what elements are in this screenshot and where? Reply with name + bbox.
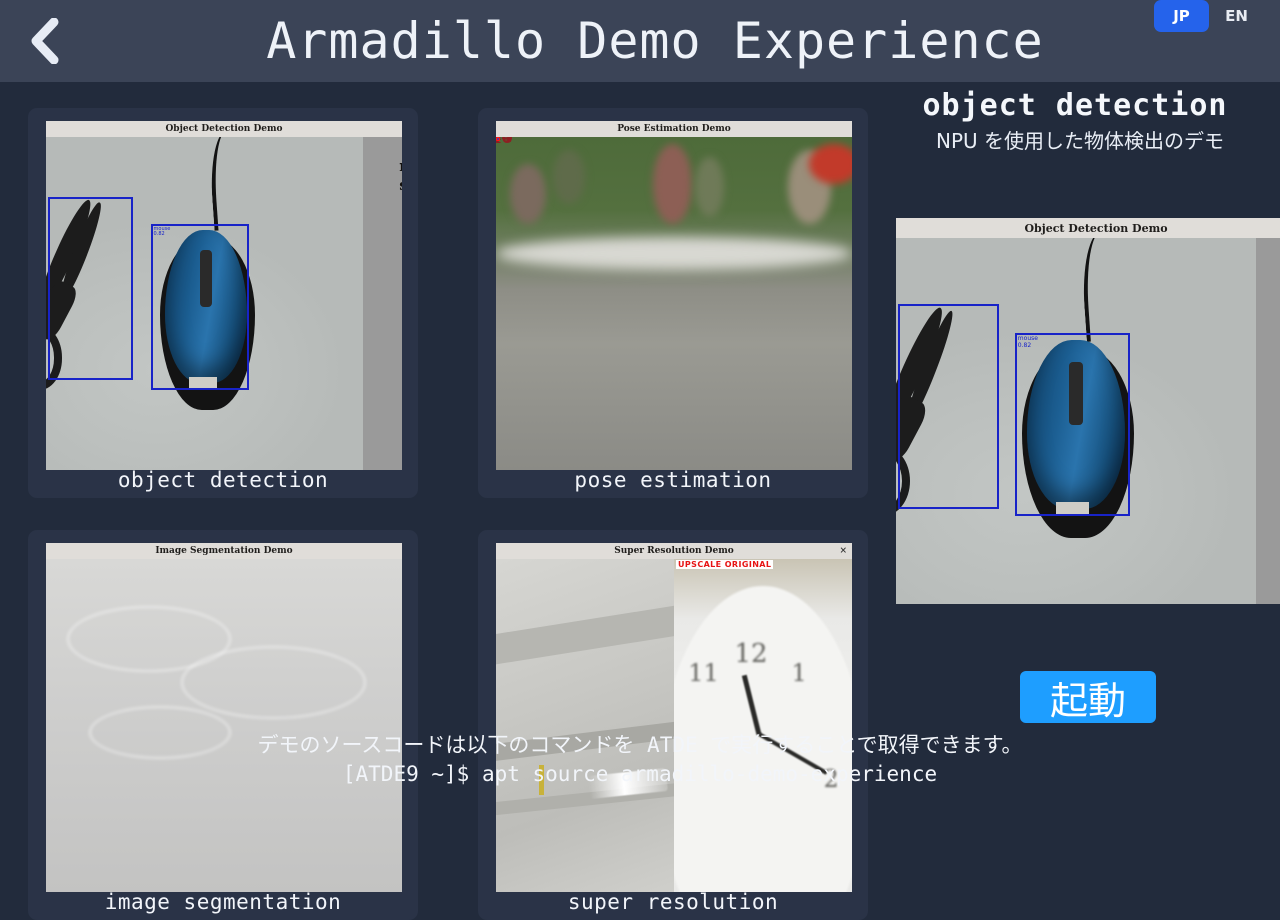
sr-upscaled-half [496, 559, 674, 892]
window-title: Object Detection Demo [46, 121, 402, 137]
detail-title: object detection [880, 88, 1270, 123]
sr-original-half: 11 12 1 2 UPSCALE ORIGINAL [674, 559, 852, 892]
window-body: 304 [496, 137, 852, 470]
bbox-mouse: mouse0.82 [151, 224, 249, 391]
demo-card-super-resolution[interactable]: Super Resolution Demo × [478, 530, 868, 920]
main-content: Object Detection Demo [0, 82, 1280, 800]
card-label: pose estimation [478, 468, 868, 492]
demo-window: Object Detection Demo [46, 121, 402, 470]
window-body [46, 559, 402, 892]
detail-subtitle: NPU を使用した物体検出のデモ [880, 125, 1280, 154]
super-resolution-scene: 11 12 1 2 UPSCALE ORIGINAL [496, 559, 852, 892]
pose-estimation-scene: 304 [496, 137, 852, 470]
demo-window: Image Segmentation Demo [46, 543, 402, 892]
window-title: Pose Estimation Demo [496, 121, 852, 137]
footer-line-2: [ATDE9 ~]$ apt source armadillo-demo-exp… [0, 760, 1280, 788]
back-button[interactable] [0, 0, 90, 82]
demo-card-grid: Object Detection Demo [28, 108, 868, 798]
detail-preview-window: Object Detection Demo [896, 218, 1280, 604]
lang-button-jp[interactable]: JP [1154, 0, 1209, 32]
bbox-label-mouse: mouse0.82 [154, 227, 171, 239]
close-icon[interactable]: × [839, 543, 847, 559]
bbox-scissors [48, 197, 134, 380]
demo-window: Pose Estimation Demo [496, 121, 852, 470]
demo-card-image-segmentation[interactable]: Image Segmentation Demo [28, 530, 418, 920]
language-switcher: JP EN [1154, 0, 1264, 32]
detail-panel: object detection NPU を使用した物体検出のデモ Object… [880, 82, 1280, 800]
window-title: Super Resolution Demo × [496, 543, 852, 559]
page-title: Armadillo Demo Experience [90, 12, 1220, 70]
demo-window: Super Resolution Demo × [496, 543, 852, 892]
bbox-mouse: mouse0.82 [1015, 333, 1130, 516]
object-detection-scene: mouse0.82 mou scis [46, 137, 402, 470]
card-label: image segmentation [28, 890, 418, 914]
app-header: Armadillo Demo Experience JP EN [0, 0, 1280, 82]
window-body: mouse0.82 mou scis [46, 137, 402, 470]
detection-legend-panel: mou scis [1256, 238, 1280, 604]
mouse-cable [207, 137, 242, 231]
demo-card-object-detection[interactable]: Object Detection Demo [28, 108, 418, 498]
upscale-original-label: UPSCALE ORIGINAL [676, 560, 773, 569]
legend-text: mou scis [399, 157, 402, 195]
card-label: super resolution [478, 890, 868, 914]
preview-photo: mouse0.82 [896, 238, 1256, 604]
detection-legend-panel: mou scis [363, 137, 402, 470]
window-body: 11 12 1 2 UPSCALE ORIGINAL [496, 559, 852, 892]
launch-button[interactable]: 起動 [1020, 671, 1156, 723]
mouse-cable [1079, 238, 1119, 341]
window-title: Image Segmentation Demo [46, 543, 402, 559]
chevron-left-icon [28, 18, 62, 64]
preview-object-detection-scene: mouse0.82 mou scis [896, 238, 1280, 604]
demo-card-pose-estimation[interactable]: Pose Estimation Demo [478, 108, 868, 498]
segmentation-scene [46, 559, 402, 892]
detection-photo: mouse0.82 [46, 137, 363, 470]
footer-line-1: デモのソースコードは以下のコマンドを ATDE で実行することで取得できます。 [0, 731, 1280, 759]
bbox-label-mouse: mouse0.82 [1018, 336, 1038, 350]
bbox-scissors [898, 304, 999, 509]
footer-instructions: デモのソースコードは以下のコマンドを ATDE で実行することで取得できます。 … [0, 731, 1280, 788]
card-label: object detection [28, 468, 418, 492]
preview-window-title: Object Detection Demo [896, 218, 1280, 238]
lang-button-en[interactable]: EN [1209, 0, 1264, 32]
preview-window-body: mouse0.82 mou scis [896, 238, 1280, 604]
